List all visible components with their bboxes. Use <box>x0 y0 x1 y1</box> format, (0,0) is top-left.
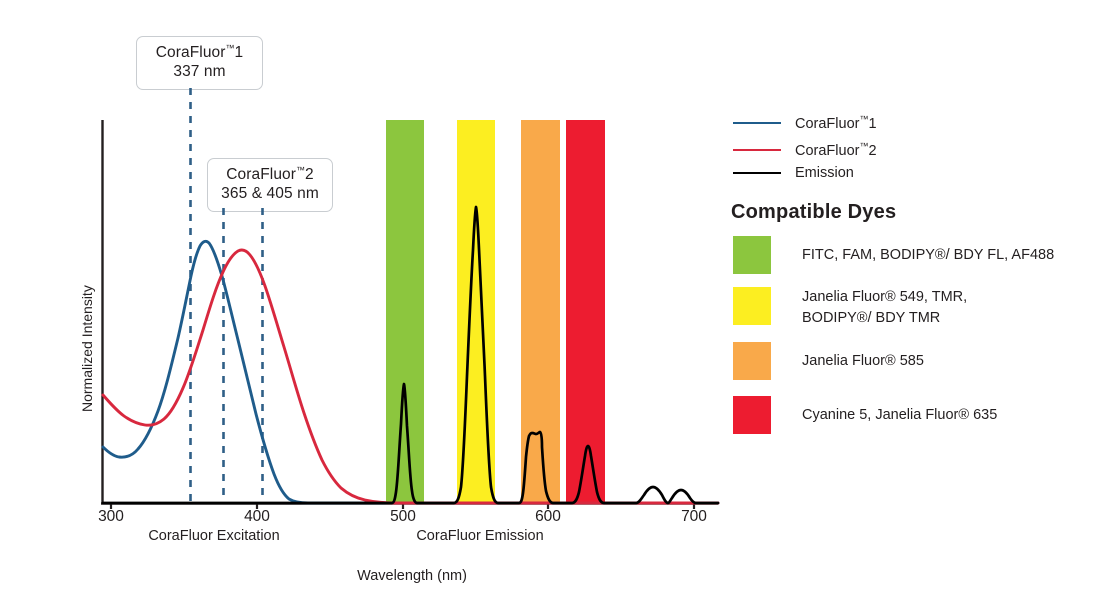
x-sublabel-emission: CoraFluor Emission <box>376 528 584 544</box>
legend-label-corafluor1: CoraFluor™1 <box>795 114 877 132</box>
legend-item-corafluor1: CoraFluor™1 <box>733 114 877 132</box>
x-tick-400: 400 <box>227 508 287 526</box>
legend-label-corafluor2: CoraFluor™2 <box>795 141 877 159</box>
dye-label-yellow: Janelia Fluor® 549, TMR, BODIPY®/ BDY TM… <box>802 287 967 328</box>
dye-label-red: Cyanine 5, Janelia Fluor® 635 <box>802 405 997 426</box>
dye-item-green: FITC, FAM, BODIPY®/ BDY FL, AF488 <box>733 236 1054 274</box>
dye-swatch-yellow <box>733 287 771 325</box>
dye-item-orange: Janelia Fluor® 585 <box>733 342 924 380</box>
legend-line-corafluor2 <box>733 149 781 151</box>
dye-swatch-orange <box>733 342 771 380</box>
green-band <box>386 120 424 503</box>
x-tick-300: 300 <box>81 508 141 526</box>
red-band <box>566 120 605 503</box>
legend-item-emission: Emission <box>733 165 854 181</box>
legend-label-emission: Emission <box>795 165 854 181</box>
dye-swatch-red <box>733 396 771 434</box>
dye-item-red: Cyanine 5, Janelia Fluor® 635 <box>733 396 997 434</box>
dye-label-orange: Janelia Fluor® 585 <box>802 351 924 372</box>
legend-line-emission <box>733 172 781 174</box>
spectra-plot <box>0 0 760 560</box>
compatible-dyes-title: Compatible Dyes <box>731 201 896 224</box>
x-axis-title: Wavelength (nm) <box>282 568 542 584</box>
dye-item-yellow: Janelia Fluor® 549, TMR, BODIPY®/ BDY TM… <box>733 287 967 328</box>
legend-line-corafluor1 <box>733 122 781 124</box>
x-tick-500: 500 <box>373 508 433 526</box>
x-sublabel-excitation: CoraFluor Excitation <box>110 528 318 544</box>
x-tick-600: 600 <box>518 508 578 526</box>
y-axis-title: Normalized Intensity <box>79 285 95 412</box>
dye-swatch-green <box>733 236 771 274</box>
dye-bands <box>386 120 605 503</box>
legend-item-corafluor2: CoraFluor™2 <box>733 141 877 159</box>
dye-label-green: FITC, FAM, BODIPY®/ BDY FL, AF488 <box>802 245 1054 266</box>
x-tick-700: 700 <box>664 508 724 526</box>
